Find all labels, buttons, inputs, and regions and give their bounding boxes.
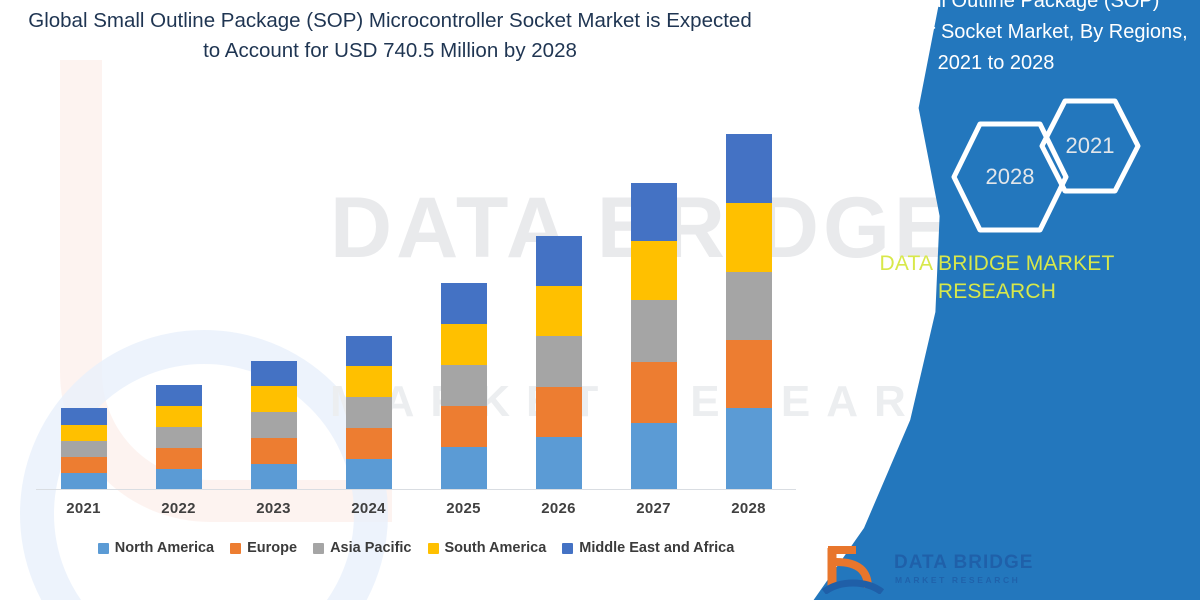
bar-segment[interactable] xyxy=(726,272,772,340)
bar-segment[interactable] xyxy=(61,457,107,473)
bar-slot xyxy=(606,100,701,489)
bar-segment[interactable] xyxy=(251,412,297,438)
legend-swatch-icon xyxy=(98,543,109,554)
stacked-bar[interactable] xyxy=(441,283,487,489)
legend-label: Middle East and Africa xyxy=(579,540,734,556)
bar-slot xyxy=(321,100,416,489)
x-axis-label: 2027 xyxy=(606,500,701,517)
bar-segment[interactable] xyxy=(536,236,582,286)
bar-segment[interactable] xyxy=(61,441,107,457)
bar-segment[interactable] xyxy=(441,447,487,489)
bar-segment[interactable] xyxy=(441,365,487,406)
bar-segment[interactable] xyxy=(536,286,582,336)
stacked-bar[interactable] xyxy=(61,408,107,489)
bar-segment[interactable] xyxy=(536,387,582,437)
legend-label: South America xyxy=(445,540,547,556)
bar-segment[interactable] xyxy=(631,300,677,362)
bar-segment[interactable] xyxy=(346,336,392,366)
legend-label: Europe xyxy=(247,540,297,556)
bar-segment[interactable] xyxy=(631,423,677,489)
bar-segment[interactable] xyxy=(61,425,107,441)
x-axis-labels: 20212022202320242025202620272028 xyxy=(36,500,796,517)
bar-segment[interactable] xyxy=(346,397,392,428)
legend-item[interactable]: Middle East and Africa xyxy=(562,540,734,556)
stacked-bar[interactable] xyxy=(346,336,392,489)
bar-segment[interactable] xyxy=(156,427,202,448)
x-axis-label: 2024 xyxy=(321,500,416,517)
bar-segment[interactable] xyxy=(631,241,677,300)
page-title: Global Small Outline Package (SOP) Micro… xyxy=(20,6,760,66)
bar-segment[interactable] xyxy=(726,340,772,408)
bar-segment[interactable] xyxy=(251,438,297,464)
x-axis-line xyxy=(36,489,796,490)
logo-text: DATA BRIDGE xyxy=(894,552,1033,574)
bar-segment[interactable] xyxy=(346,428,392,459)
x-axis-label: 2022 xyxy=(131,500,226,517)
x-axis-label: 2025 xyxy=(416,500,511,517)
bar-segment[interactable] xyxy=(156,469,202,489)
legend-swatch-icon xyxy=(313,543,324,554)
bar-slot xyxy=(131,100,226,489)
bar-segment[interactable] xyxy=(346,459,392,489)
hexagon-2021: 2021 xyxy=(1038,96,1142,196)
brand-line1: DATA BRIDGE MARKET xyxy=(879,252,1114,275)
chart-panel: Global Small Outline Package (SOP) Micro… xyxy=(0,0,860,600)
logo-subtext: MARKET RESEARCH xyxy=(895,575,1020,585)
hexagon-2028-label: 2028 xyxy=(986,164,1035,190)
bar-segment[interactable] xyxy=(441,406,487,447)
bar-segment[interactable] xyxy=(726,408,772,489)
stacked-bar[interactable] xyxy=(251,361,297,489)
bar-slot xyxy=(701,100,796,489)
hexagon-group: 2028 2021 xyxy=(926,96,1176,236)
legend-label: Asia Pacific xyxy=(330,540,411,556)
stacked-bar[interactable] xyxy=(156,385,202,489)
stacked-bar[interactable] xyxy=(536,236,582,489)
chart-legend: North AmericaEuropeAsia PacificSouth Ame… xyxy=(36,540,796,556)
x-axis-label: 2028 xyxy=(701,500,796,517)
bar-segment[interactable] xyxy=(156,406,202,427)
hexagon-2021-label: 2021 xyxy=(1066,133,1115,159)
bar-segment[interactable] xyxy=(631,362,677,423)
bar-segment[interactable] xyxy=(726,203,772,272)
stacked-bar[interactable] xyxy=(726,134,772,489)
bar-segment[interactable] xyxy=(536,437,582,489)
legend-item[interactable]: South America xyxy=(428,540,547,556)
bar-segment[interactable] xyxy=(631,183,677,241)
legend-item[interactable]: Europe xyxy=(230,540,297,556)
bar-segment[interactable] xyxy=(726,134,772,203)
brand-name: DATA BRIDGE MARKET RESEARCH xyxy=(812,250,1182,306)
bar-segment[interactable] xyxy=(251,464,297,489)
bar-segment[interactable] xyxy=(441,324,487,365)
bar-segment[interactable] xyxy=(61,473,107,489)
bar-segment[interactable] xyxy=(536,336,582,387)
x-axis-label: 2021 xyxy=(36,500,131,517)
legend-item[interactable]: North America xyxy=(98,540,214,556)
bar-segment[interactable] xyxy=(61,408,107,425)
legend-label: North America xyxy=(115,540,214,556)
legend-swatch-icon xyxy=(428,543,439,554)
bar-segment[interactable] xyxy=(156,385,202,406)
stacked-bar-chart xyxy=(36,100,796,489)
bar-slot xyxy=(36,100,131,489)
stacked-bar[interactable] xyxy=(631,183,677,489)
bar-slot xyxy=(226,100,321,489)
bar-segment[interactable] xyxy=(156,448,202,469)
bar-segment[interactable] xyxy=(346,366,392,397)
bar-segment[interactable] xyxy=(251,386,297,412)
legend-item[interactable]: Asia Pacific xyxy=(313,540,411,556)
bar-segment[interactable] xyxy=(251,361,297,386)
bar-slot xyxy=(416,100,511,489)
legend-swatch-icon xyxy=(230,543,241,554)
bridge-logo-icon xyxy=(822,542,892,594)
x-axis-label: 2026 xyxy=(511,500,606,517)
right-panel-title: Global Small Outline Package (SOP) Micro… xyxy=(800,0,1192,79)
company-logo: DATA BRIDGE MARKET RESEARCH xyxy=(822,542,1082,598)
bar-segment[interactable] xyxy=(441,283,487,324)
bar-slot xyxy=(511,100,606,489)
brand-line2: RESEARCH xyxy=(938,280,1056,303)
legend-swatch-icon xyxy=(562,543,573,554)
x-axis-label: 2023 xyxy=(226,500,321,517)
